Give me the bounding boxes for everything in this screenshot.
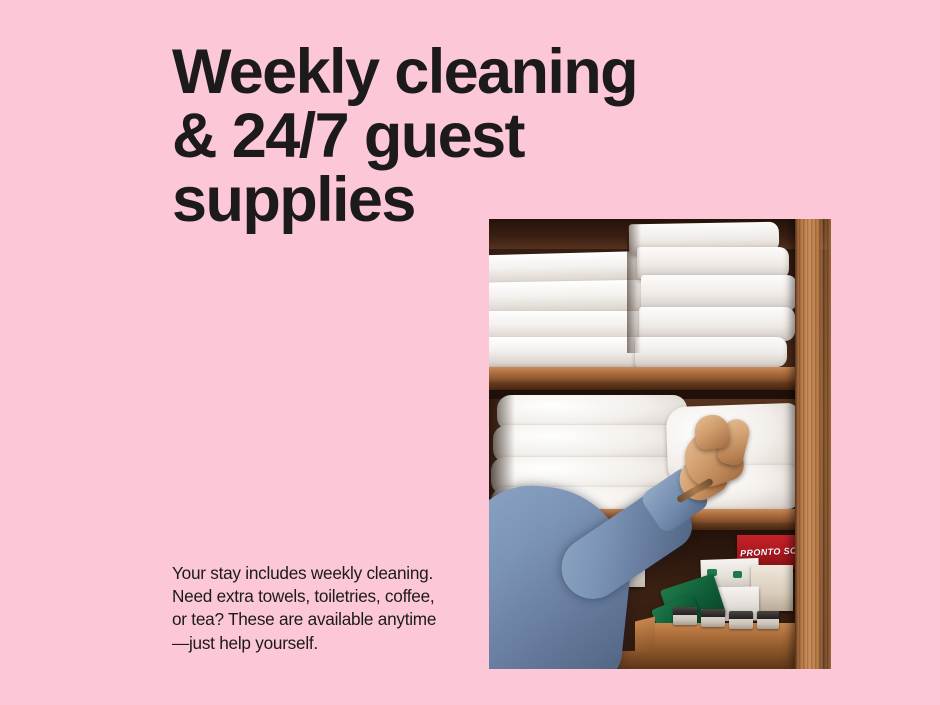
towel-top-right-1 (641, 275, 797, 311)
towel-stack-seam (627, 223, 641, 353)
linen-closet-photo: PRONTO SO (489, 219, 831, 669)
shelf-plank-upper (489, 367, 809, 383)
poster-canvas: Weekly cleaning & 24/7 guest supplies Yo… (0, 0, 940, 705)
supply-jar-2 (701, 609, 725, 627)
supply-jar-4 (757, 611, 779, 629)
towel-top-right-2 (639, 307, 795, 341)
pronto-box-label: PRONTO SO (740, 546, 798, 559)
supply-jar-3 (729, 611, 753, 629)
page-title: Weekly cleaning & 24/7 guest supplies (172, 40, 692, 232)
cabinet-post-grain (795, 219, 831, 669)
towel-top-right-3 (635, 337, 787, 367)
supply-box-green-accent-2 (733, 571, 742, 578)
body-copy: Your stay includes weekly cleaning. Need… (172, 562, 482, 655)
supply-jar-1 (673, 607, 697, 625)
